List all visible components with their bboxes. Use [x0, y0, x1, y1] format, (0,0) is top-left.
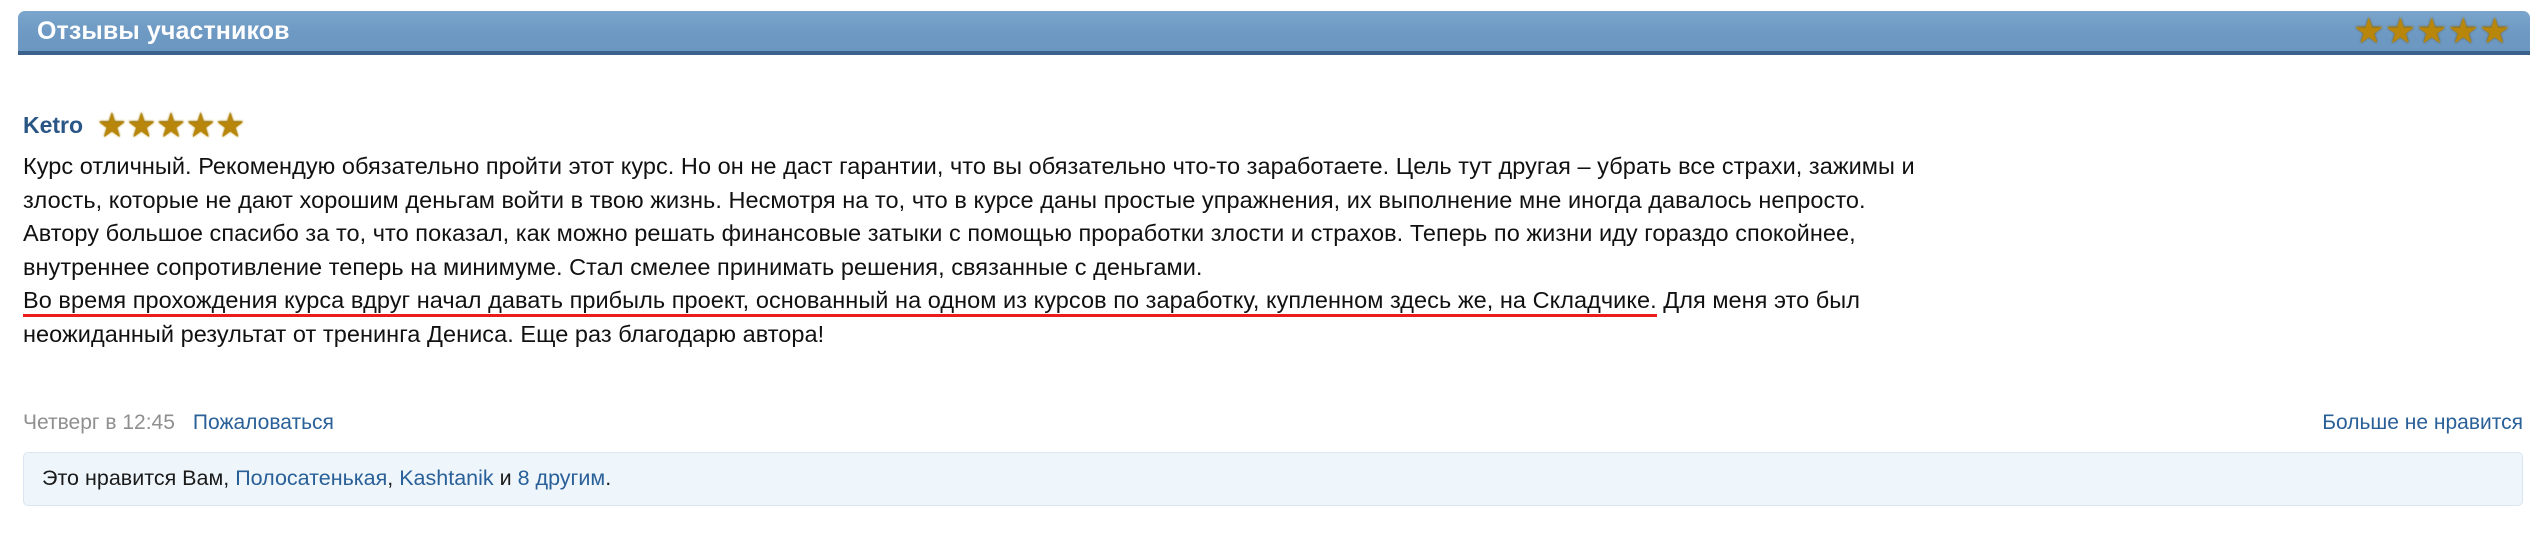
unlike-link[interactable]: Больше не нравится: [2322, 411, 2523, 434]
star-icon: ★: [2354, 14, 2384, 48]
star-icon: ★: [2448, 14, 2478, 48]
review-line: неожиданный результат от тренинга Дениса…: [23, 318, 2523, 352]
red-underlined-text: Во время прохождения курса вдруг начал д…: [23, 287, 1657, 317]
likes-prefix: Это нравится Вам,: [42, 466, 235, 490]
likes-text: Это нравится Вам, Полосатенькая, Kashtan…: [42, 468, 611, 490]
review-line-tail: Для меня это был: [1657, 287, 1860, 313]
meta-right-group: Больше не нравится: [2322, 412, 2523, 434]
author-rating-stars: ★ ★ ★ ★ ★: [97, 108, 245, 141]
member-reviews-widget: Отзывы участников ★ ★ ★ ★ ★ Ketro ★ ★ ★ …: [0, 0, 2546, 534]
star-icon: ★: [2480, 14, 2510, 48]
review-line: внутреннее сопротивление теперь на миним…: [23, 251, 2523, 285]
review-line: Автору большое спасибо за то, что показа…: [23, 217, 2523, 251]
likes-conjunction: и: [494, 466, 518, 490]
star-icon: ★: [2385, 14, 2415, 48]
other-likers-link[interactable]: 8 другим: [518, 466, 606, 490]
review-line: Курс отличный. Рекомендую обязательно пр…: [23, 150, 2523, 184]
likes-box: Это нравится Вам, Полосатенькая, Kashtan…: [23, 452, 2523, 506]
star-icon: ★: [127, 108, 157, 141]
meta-left-group: Четверг в 12:45 Пожаловаться: [23, 412, 334, 433]
review-line-highlighted: Во время прохождения курса вдруг начал д…: [23, 284, 2523, 318]
review-author-row: Ketro ★ ★ ★ ★ ★: [23, 108, 245, 142]
likes-suffix: .: [605, 466, 611, 490]
header-rating-stars: ★ ★ ★ ★ ★: [2354, 14, 2516, 48]
star-icon: ★: [186, 108, 216, 141]
liker-link-2[interactable]: Kashtanik: [399, 466, 493, 490]
review-timestamp: Четверг в 12:45: [23, 412, 175, 433]
review-meta-row: Четверг в 12:45 Пожаловаться Больше не н…: [23, 412, 2523, 440]
star-icon: ★: [156, 108, 186, 141]
review-line: злость, которые не дают хорошим деньгам …: [23, 184, 2523, 218]
author-name-link[interactable]: Ketro: [23, 114, 83, 137]
review-text: Курс отличный. Рекомендую обязательно пр…: [23, 150, 2523, 351]
likes-separator: ,: [387, 466, 399, 490]
liker-link-1[interactable]: Полосатенькая: [235, 466, 387, 490]
report-link[interactable]: Пожаловаться: [193, 412, 334, 433]
panel-header: Отзывы участников ★ ★ ★ ★ ★: [18, 11, 2530, 55]
star-icon: ★: [215, 108, 245, 141]
star-icon: ★: [2417, 14, 2447, 48]
page-title: Отзывы участников: [37, 19, 290, 44]
star-icon: ★: [97, 108, 127, 141]
